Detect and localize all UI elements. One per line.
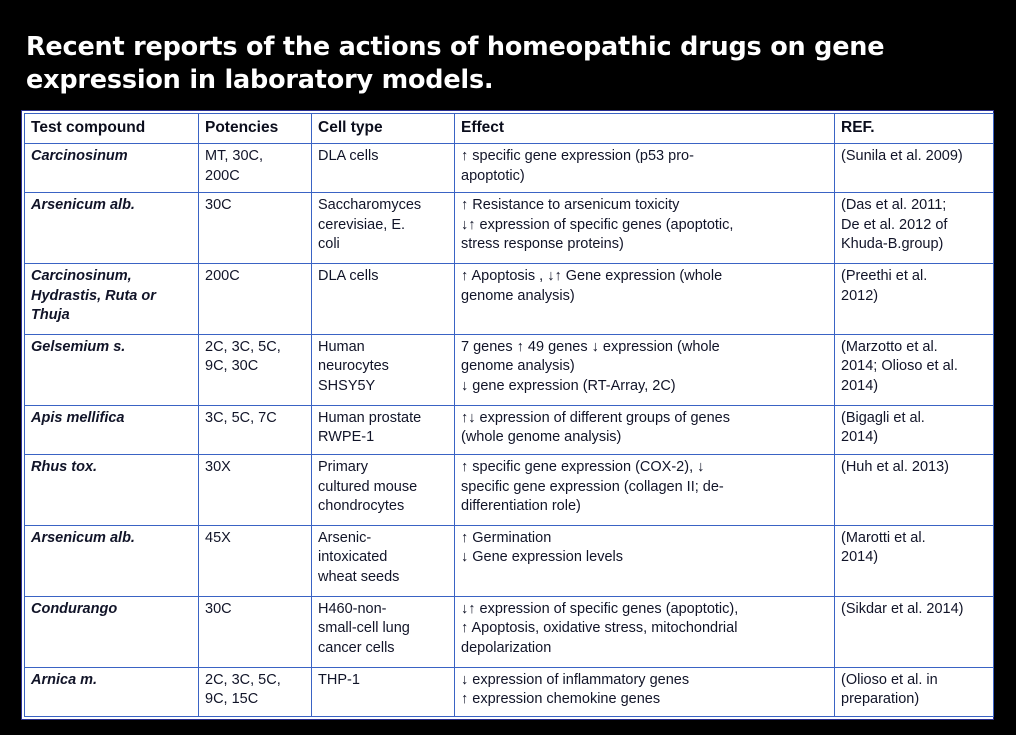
cell-ref-text: (Marotti et al. 2014) [841, 530, 926, 566]
cell-cell-type-text: Saccharomyces cerevisiae, E. coli [318, 197, 421, 252]
cell-effect: ↓ expression of inflammatory genes ↑ exp… [455, 667, 835, 716]
cell-cell-type: THP-1 [312, 667, 455, 716]
cell-effect: ↑ specific gene expression (p53 pro- apo… [455, 144, 835, 193]
table-row: Arnica m.2C, 3C, 5C, 9C, 15CTHP-1↓ expre… [25, 667, 994, 716]
table-row: Carcinosinum, Hydrastis, Ruta or Thuja20… [25, 264, 994, 335]
cell-test-compound: Arsenicum alb. [25, 525, 199, 596]
cell-ref: (Olioso et al. in preparation) [835, 667, 994, 716]
cell-test-compound: Condurango [25, 596, 199, 667]
cell-test-compound-text: Arsenicum alb. [31, 197, 135, 213]
cell-potencies-text: 30X [205, 459, 231, 475]
cell-effect: ↑↓ expression of different groups of gen… [455, 405, 835, 454]
cell-cell-type-text: DLA cells [318, 148, 378, 164]
cell-effect-text: ↑ specific gene expression (p53 pro- apo… [461, 148, 694, 184]
page-title: Recent reports of the actions of homeopa… [26, 31, 926, 97]
cell-test-compound: Apis mellifica [25, 405, 199, 454]
cell-test-compound-text: Carcinosinum, Hydrastis, Ruta or Thuja [31, 268, 156, 323]
table-header: Test compound Potencies Cell type Effect… [25, 114, 994, 144]
cell-test-compound-text: Rhus tox. [31, 459, 97, 475]
cell-effect-text: ↓↑ expression of specific genes (apoptot… [461, 601, 738, 656]
cell-potencies-text: 2C, 3C, 5C, 9C, 15C [205, 672, 281, 708]
cell-ref: (Sikdar et al. 2014) [835, 596, 994, 667]
table-row: Rhus tox.30XPrimary cultured mouse chond… [25, 455, 994, 526]
cell-ref-text: (Marzotto et al. 2014; Olioso et al. 201… [841, 339, 958, 394]
cell-ref-text: (Preethi et al. 2012) [841, 268, 927, 304]
cell-cell-type: Human neurocytes SHSY5Y [312, 334, 455, 405]
cell-ref-text: (Sikdar et al. 2014) [841, 601, 964, 617]
cell-test-compound-text: Apis mellifica [31, 410, 124, 426]
cell-potencies: 2C, 3C, 5C, 9C, 30C [199, 334, 312, 405]
cell-cell-type-text: H460-non- small-cell lung cancer cells [318, 601, 410, 656]
cell-cell-type: DLA cells [312, 264, 455, 335]
cell-ref: (Marzotto et al. 2014; Olioso et al. 201… [835, 334, 994, 405]
cell-potencies: 30C [199, 193, 312, 264]
cell-test-compound: Carcinosinum [25, 144, 199, 193]
cell-cell-type: Human prostate RWPE-1 [312, 405, 455, 454]
table-row: Apis mellifica3C, 5C, 7CHuman prostate R… [25, 405, 994, 454]
cell-potencies: 3C, 5C, 7C [199, 405, 312, 454]
table-row: Arsenicum alb.45XArsenic- intoxicated wh… [25, 525, 994, 596]
cell-effect-text: ↓ expression of inflammatory genes ↑ exp… [461, 672, 689, 708]
slide-canvas: Recent reports of the actions of homeopa… [0, 0, 1016, 735]
cell-cell-type: Arsenic- intoxicated wheat seeds [312, 525, 455, 596]
cell-test-compound-text: Arnica m. [31, 672, 97, 688]
cell-test-compound-text: Arsenicum alb. [31, 530, 135, 546]
cell-effect: ↑ specific gene expression (COX-2), ↓ sp… [455, 455, 835, 526]
cell-cell-type-text: Human prostate RWPE-1 [318, 410, 421, 446]
cell-cell-type-text: Arsenic- intoxicated wheat seeds [318, 530, 399, 585]
cell-potencies-text: 30C [205, 601, 232, 617]
cell-effect-text: ↑ Resistance to arsenicum toxicity ↓↑ ex… [461, 197, 733, 252]
cell-potencies-text: MT, 30C, 200C [205, 148, 263, 184]
cell-test-compound: Rhus tox. [25, 455, 199, 526]
cell-ref-text: (Olioso et al. in preparation) [841, 672, 938, 708]
table-header-row: Test compound Potencies Cell type Effect… [25, 114, 994, 144]
cell-test-compound: Gelsemium s. [25, 334, 199, 405]
column-header-potencies: Potencies [199, 114, 312, 144]
cell-potencies: 2C, 3C, 5C, 9C, 15C [199, 667, 312, 716]
cell-ref: (Sunila et al. 2009) [835, 144, 994, 193]
cell-cell-type: Primary cultured mouse chondrocytes [312, 455, 455, 526]
cell-potencies: MT, 30C, 200C [199, 144, 312, 193]
cell-ref: (Marotti et al. 2014) [835, 525, 994, 596]
cell-ref-text: (Sunila et al. 2009) [841, 148, 963, 164]
cell-potencies-text: 200C [205, 268, 240, 284]
table-row: Arsenicum alb.30CSaccharomyces cerevisia… [25, 193, 994, 264]
cell-ref: (Bigagli et al. 2014) [835, 405, 994, 454]
cell-effect-text: ↑ Germination ↓ Gene expression levels [461, 530, 623, 566]
cell-potencies-text: 45X [205, 530, 231, 546]
gene-expression-table: Test compound Potencies Cell type Effect… [24, 113, 994, 717]
cell-test-compound-text: Condurango [31, 601, 117, 617]
cell-effect: 7 genes ↑ 49 genes ↓ expression (whole g… [455, 334, 835, 405]
column-header-ref: REF. [835, 114, 994, 144]
cell-ref: (Das et al. 2011; De et al. 2012 of Khud… [835, 193, 994, 264]
table-row: CarcinosinumMT, 30C, 200CDLA cells↑ spec… [25, 144, 994, 193]
cell-ref-text: (Bigagli et al. 2014) [841, 410, 925, 446]
cell-effect-text: ↑ specific gene expression (COX-2), ↓ sp… [461, 459, 724, 514]
cell-test-compound-text: Carcinosinum [31, 148, 128, 164]
cell-effect: ↓↑ expression of specific genes (apoptot… [455, 596, 835, 667]
table-frame: Test compound Potencies Cell type Effect… [21, 110, 994, 720]
column-header-cell-type: Cell type [312, 114, 455, 144]
cell-effect: ↑ Germination ↓ Gene expression levels [455, 525, 835, 596]
cell-ref-text: (Das et al. 2011; De et al. 2012 of Khud… [841, 197, 947, 252]
cell-cell-type-text: Human neurocytes SHSY5Y [318, 339, 389, 394]
column-header-test-compound: Test compound [25, 114, 199, 144]
cell-test-compound-text: Gelsemium s. [31, 339, 125, 355]
column-header-effect: Effect [455, 114, 835, 144]
cell-effect: ↑ Resistance to arsenicum toxicity ↓↑ ex… [455, 193, 835, 264]
cell-cell-type: Saccharomyces cerevisiae, E. coli [312, 193, 455, 264]
cell-effect-text: ↑↓ expression of different groups of gen… [461, 410, 730, 446]
cell-potencies-text: 3C, 5C, 7C [205, 410, 277, 426]
cell-test-compound: Arsenicum alb. [25, 193, 199, 264]
cell-potencies: 45X [199, 525, 312, 596]
cell-test-compound: Arnica m. [25, 667, 199, 716]
cell-effect-text: 7 genes ↑ 49 genes ↓ expression (whole g… [461, 339, 720, 394]
table-body: CarcinosinumMT, 30C, 200CDLA cells↑ spec… [25, 144, 994, 717]
cell-effect-text: ↑ Apoptosis , ↓↑ Gene expression (whole … [461, 268, 722, 304]
cell-ref-text: (Huh et al. 2013) [841, 459, 949, 475]
cell-potencies-text: 2C, 3C, 5C, 9C, 30C [205, 339, 281, 375]
cell-cell-type-text: DLA cells [318, 268, 378, 284]
cell-potencies-text: 30C [205, 197, 232, 213]
cell-test-compound: Carcinosinum, Hydrastis, Ruta or Thuja [25, 264, 199, 335]
cell-cell-type: DLA cells [312, 144, 455, 193]
table-row: Gelsemium s.2C, 3C, 5C, 9C, 30CHuman neu… [25, 334, 994, 405]
cell-cell-type-text: THP-1 [318, 672, 360, 688]
cell-potencies: 30C [199, 596, 312, 667]
cell-cell-type: H460-non- small-cell lung cancer cells [312, 596, 455, 667]
cell-potencies: 30X [199, 455, 312, 526]
cell-ref: (Huh et al. 2013) [835, 455, 994, 526]
cell-cell-type-text: Primary cultured mouse chondrocytes [318, 459, 417, 514]
cell-ref: (Preethi et al. 2012) [835, 264, 994, 335]
cell-potencies: 200C [199, 264, 312, 335]
cell-effect: ↑ Apoptosis , ↓↑ Gene expression (whole … [455, 264, 835, 335]
table-row: Condurango30CH460-non- small-cell lung c… [25, 596, 994, 667]
